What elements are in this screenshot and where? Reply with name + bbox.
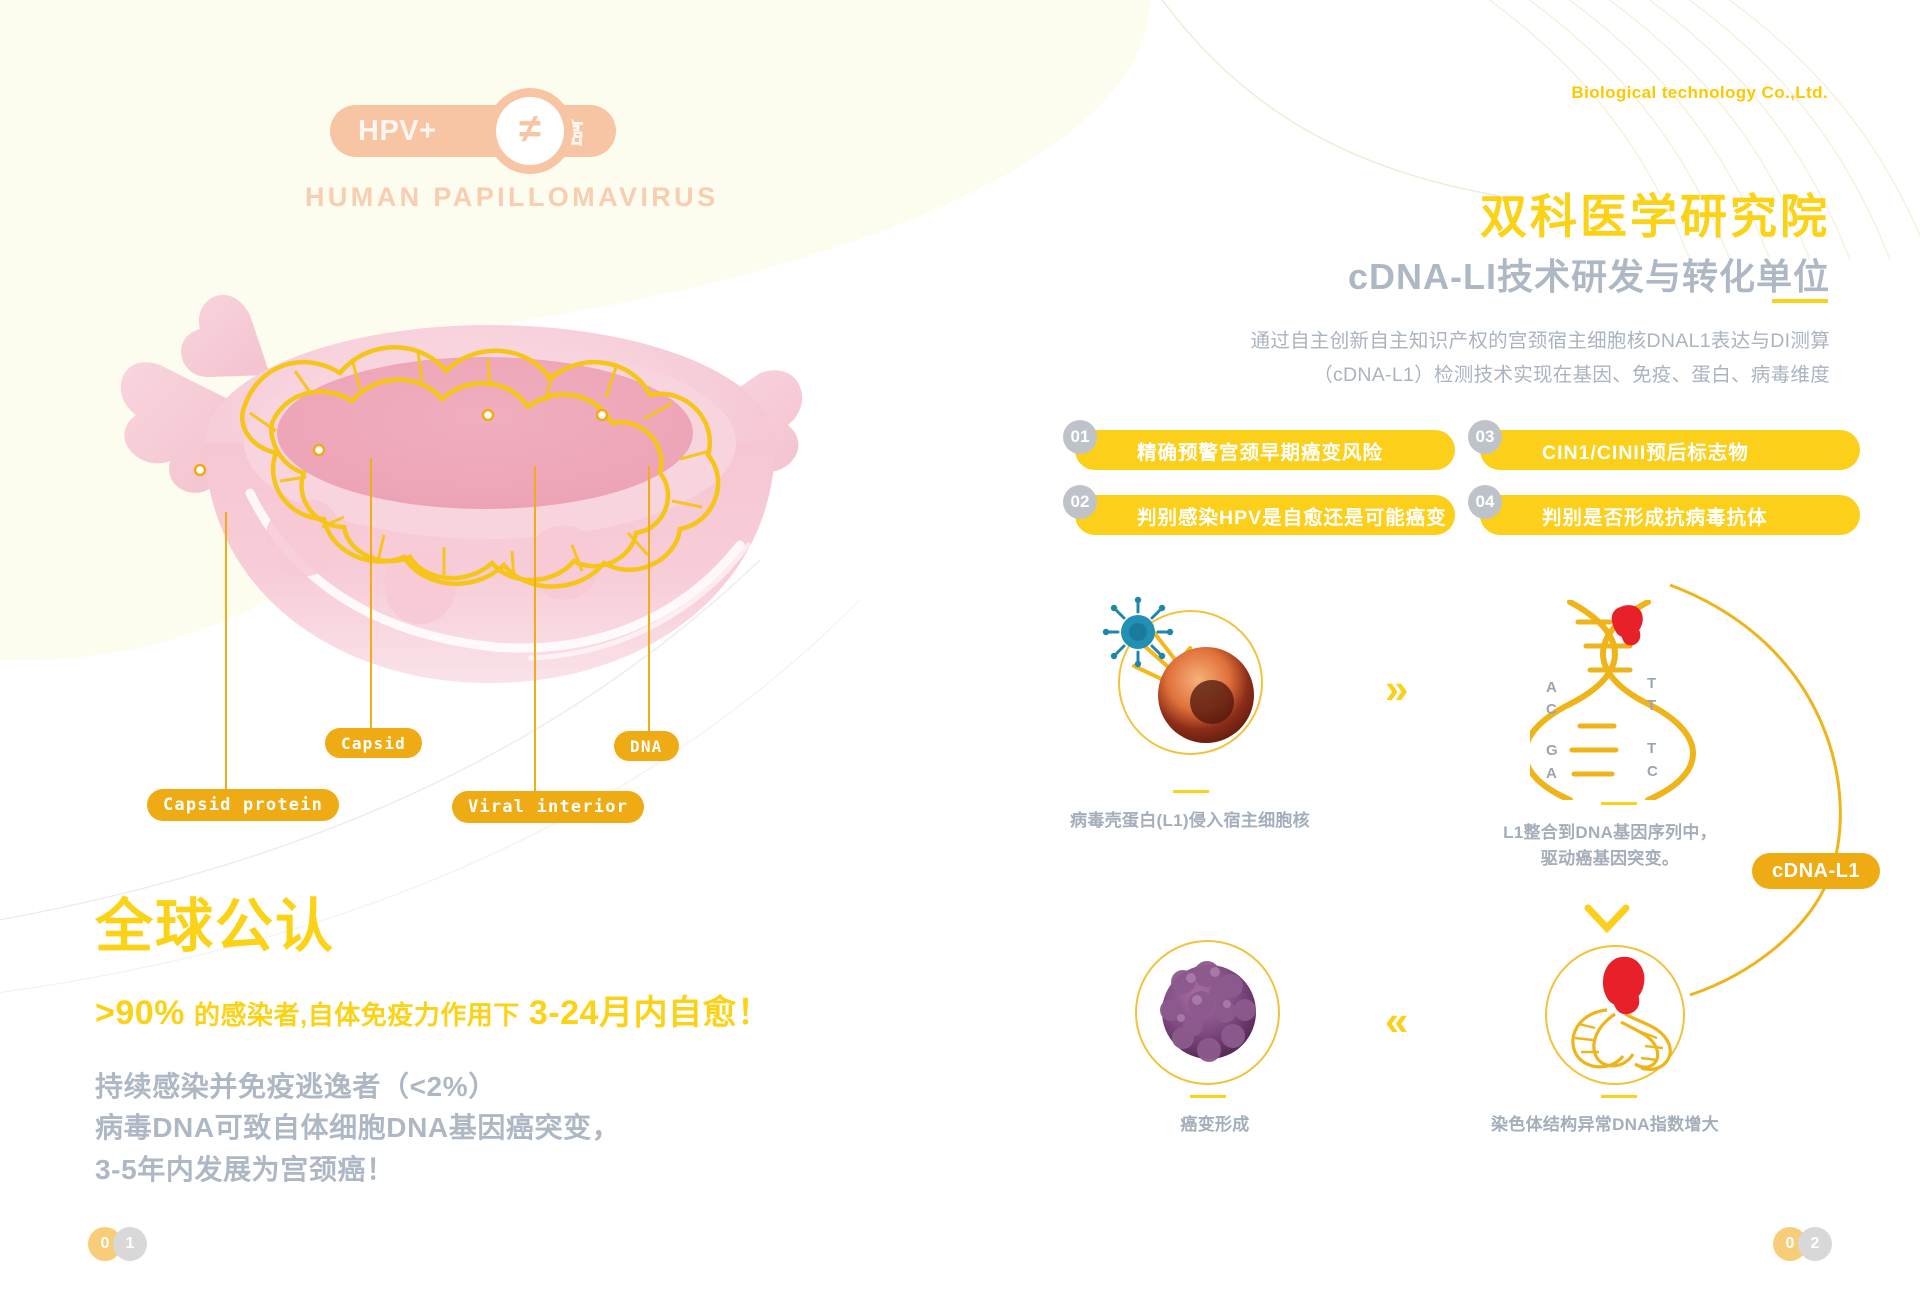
- self-healing-stat-line: >90% 的感染者,自体免疫力作用下 3-24月内自愈！: [95, 985, 771, 1034]
- stat-emphasis-text: 3-24月内自愈！: [529, 994, 772, 1032]
- not-equal-glyph: ≠: [496, 97, 564, 165]
- step2-caption-rule: [1601, 802, 1637, 805]
- step1-illustration: [1090, 590, 1300, 780]
- leader-line-capsid: [370, 458, 372, 728]
- leader-line-capsid-protein: [225, 512, 227, 789]
- page-number-left-second: 1: [113, 1227, 147, 1261]
- institute-description: 通过自主创新自主知识产权的宫颈宿主细胞核DNAL1表达与DI测算 （cDNA-L…: [1250, 325, 1830, 392]
- feature-label-01: 精确预警宫颈早期癌变风险: [1075, 436, 1383, 465]
- page-number-right: 0 2: [1773, 1227, 1832, 1261]
- virus-illustration: [100, 255, 880, 685]
- institute-title-group: 双科医学研究院 cDNA-LI技术研发与转化单位: [1348, 190, 1830, 300]
- dna-base-left-1: A: [1546, 679, 1557, 696]
- leader-line-viral-interior: [534, 466, 536, 791]
- dna-base-left-4: A: [1546, 765, 1557, 782]
- paragraph-line-1: 持续感染并免疫逃逸者（<2%）: [95, 1066, 771, 1107]
- feature-number-01: 01: [1063, 420, 1097, 454]
- page-number-right-second: 2: [1798, 1227, 1832, 1261]
- institute-subtitle: cDNA-LI技术研发与转化单位: [1348, 248, 1830, 300]
- feature-label-02: 判别感染HPV是自愈还是可能癌变: [1075, 501, 1447, 530]
- dna-base-right-1: T: [1647, 675, 1656, 692]
- poster-page: HPV+ 宫颈癌 ≠ HUMAN PAPILLOMAVIRUS: [0, 0, 1920, 1303]
- feature-item-01[interactable]: 01 精确预警宫颈早期癌变风险: [1075, 430, 1455, 470]
- global-consensus-headline: 全球公认: [95, 895, 771, 959]
- page-number-left: 0 1: [88, 1227, 147, 1261]
- paragraph-line-3: 3-5年内发展为宫颈癌！: [95, 1149, 771, 1190]
- callout-dna: DNA: [614, 731, 679, 761]
- arrow-right-icon: »: [1385, 668, 1408, 710]
- step3-caption-rule: [1601, 1095, 1637, 1098]
- stat-percentage: >90%: [95, 994, 185, 1032]
- dna-base-right-2: T: [1647, 697, 1656, 714]
- dna-base-left-3: G: [1546, 742, 1558, 759]
- callout-capsid-protein: Capsid protein: [147, 789, 339, 821]
- step3-caption: 染色体结构异常DNA指数增大: [1455, 1112, 1755, 1138]
- description-line-1: 通过自主创新自主知识产权的宫颈宿主细胞核DNAL1表达与DI测算: [1250, 325, 1830, 359]
- step4-caption-rule: [1190, 1095, 1226, 1098]
- arrow-left-icon: «: [1385, 1000, 1408, 1042]
- not-equal-sign-icon: ≠: [487, 88, 573, 174]
- step2-caption-line-2: 驱动癌基因突变。: [1460, 846, 1760, 872]
- step2-caption: L1整合到DNA基因序列中， 驱动癌基因突变。: [1460, 820, 1760, 871]
- step3-chromosome-illustration: [1545, 940, 1700, 1100]
- arrow-down-icon: [1582, 900, 1632, 940]
- persistent-infection-paragraph: 持续感染并免疫逃逸者（<2%） 病毒DNA可致自体细胞DNA基因癌突变， 3-5…: [95, 1066, 771, 1190]
- callout-viral-interior: Viral interior: [452, 791, 644, 823]
- feature-label-04: 判别是否形成抗病毒抗体: [1480, 501, 1768, 530]
- feature-label-03: CIN1/CINII预后标志物: [1480, 436, 1749, 465]
- dna-base-right-3: T: [1647, 740, 1656, 757]
- step4-caption: 癌变形成: [1065, 1112, 1365, 1138]
- step2-caption-line-1: L1整合到DNA基因序列中，: [1460, 820, 1760, 846]
- title-divider: [1772, 299, 1828, 303]
- description-line-2: （cDNA-L1）检测技术实现在基因、免疫、蛋白、病毒维度: [1250, 359, 1830, 393]
- dna-base-right-4: C: [1647, 763, 1658, 780]
- global-consensus-block: 全球公认 >90% 的感染者,自体免疫力作用下 3-24月内自愈！ 持续感染并免…: [95, 895, 771, 1190]
- stat-middle-text: 的感染者,自体免疫力作用下: [194, 1000, 520, 1030]
- badge-left-text: HPV+: [358, 115, 437, 148]
- company-mark: Biological technology Co.,Ltd.: [1571, 83, 1828, 103]
- step2-dna-illustration: [1530, 600, 1710, 800]
- institute-title: 双科医学研究院: [1348, 190, 1830, 244]
- feature-item-03[interactable]: 03 CIN1/CINII预后标志物: [1480, 430, 1860, 470]
- callout-capsid: Capsid: [325, 728, 422, 758]
- feature-item-02[interactable]: 02 判别感染HPV是自愈还是可能癌变: [1075, 495, 1455, 535]
- feature-number-02: 02: [1063, 485, 1097, 519]
- cdna-l1-badge: cDNA-L1: [1752, 853, 1880, 889]
- leader-line-dna: [648, 466, 650, 731]
- feature-item-04[interactable]: 04 判别是否形成抗病毒抗体: [1480, 495, 1860, 535]
- hpv-subtitle: HUMAN PAPILLOMAVIRUS: [305, 182, 719, 213]
- paragraph-line-2: 病毒DNA可致自体细胞DNA基因癌突变，: [95, 1107, 771, 1148]
- dna-base-left-2: C: [1546, 701, 1557, 718]
- step4-tumor-illustration: [1135, 938, 1285, 1093]
- step1-caption-rule: [1173, 790, 1209, 793]
- feature-number-04: 04: [1468, 485, 1502, 519]
- step1-caption: 病毒壳蛋白(L1)侵入宿主细胞核: [1015, 808, 1365, 834]
- feature-number-03: 03: [1468, 420, 1502, 454]
